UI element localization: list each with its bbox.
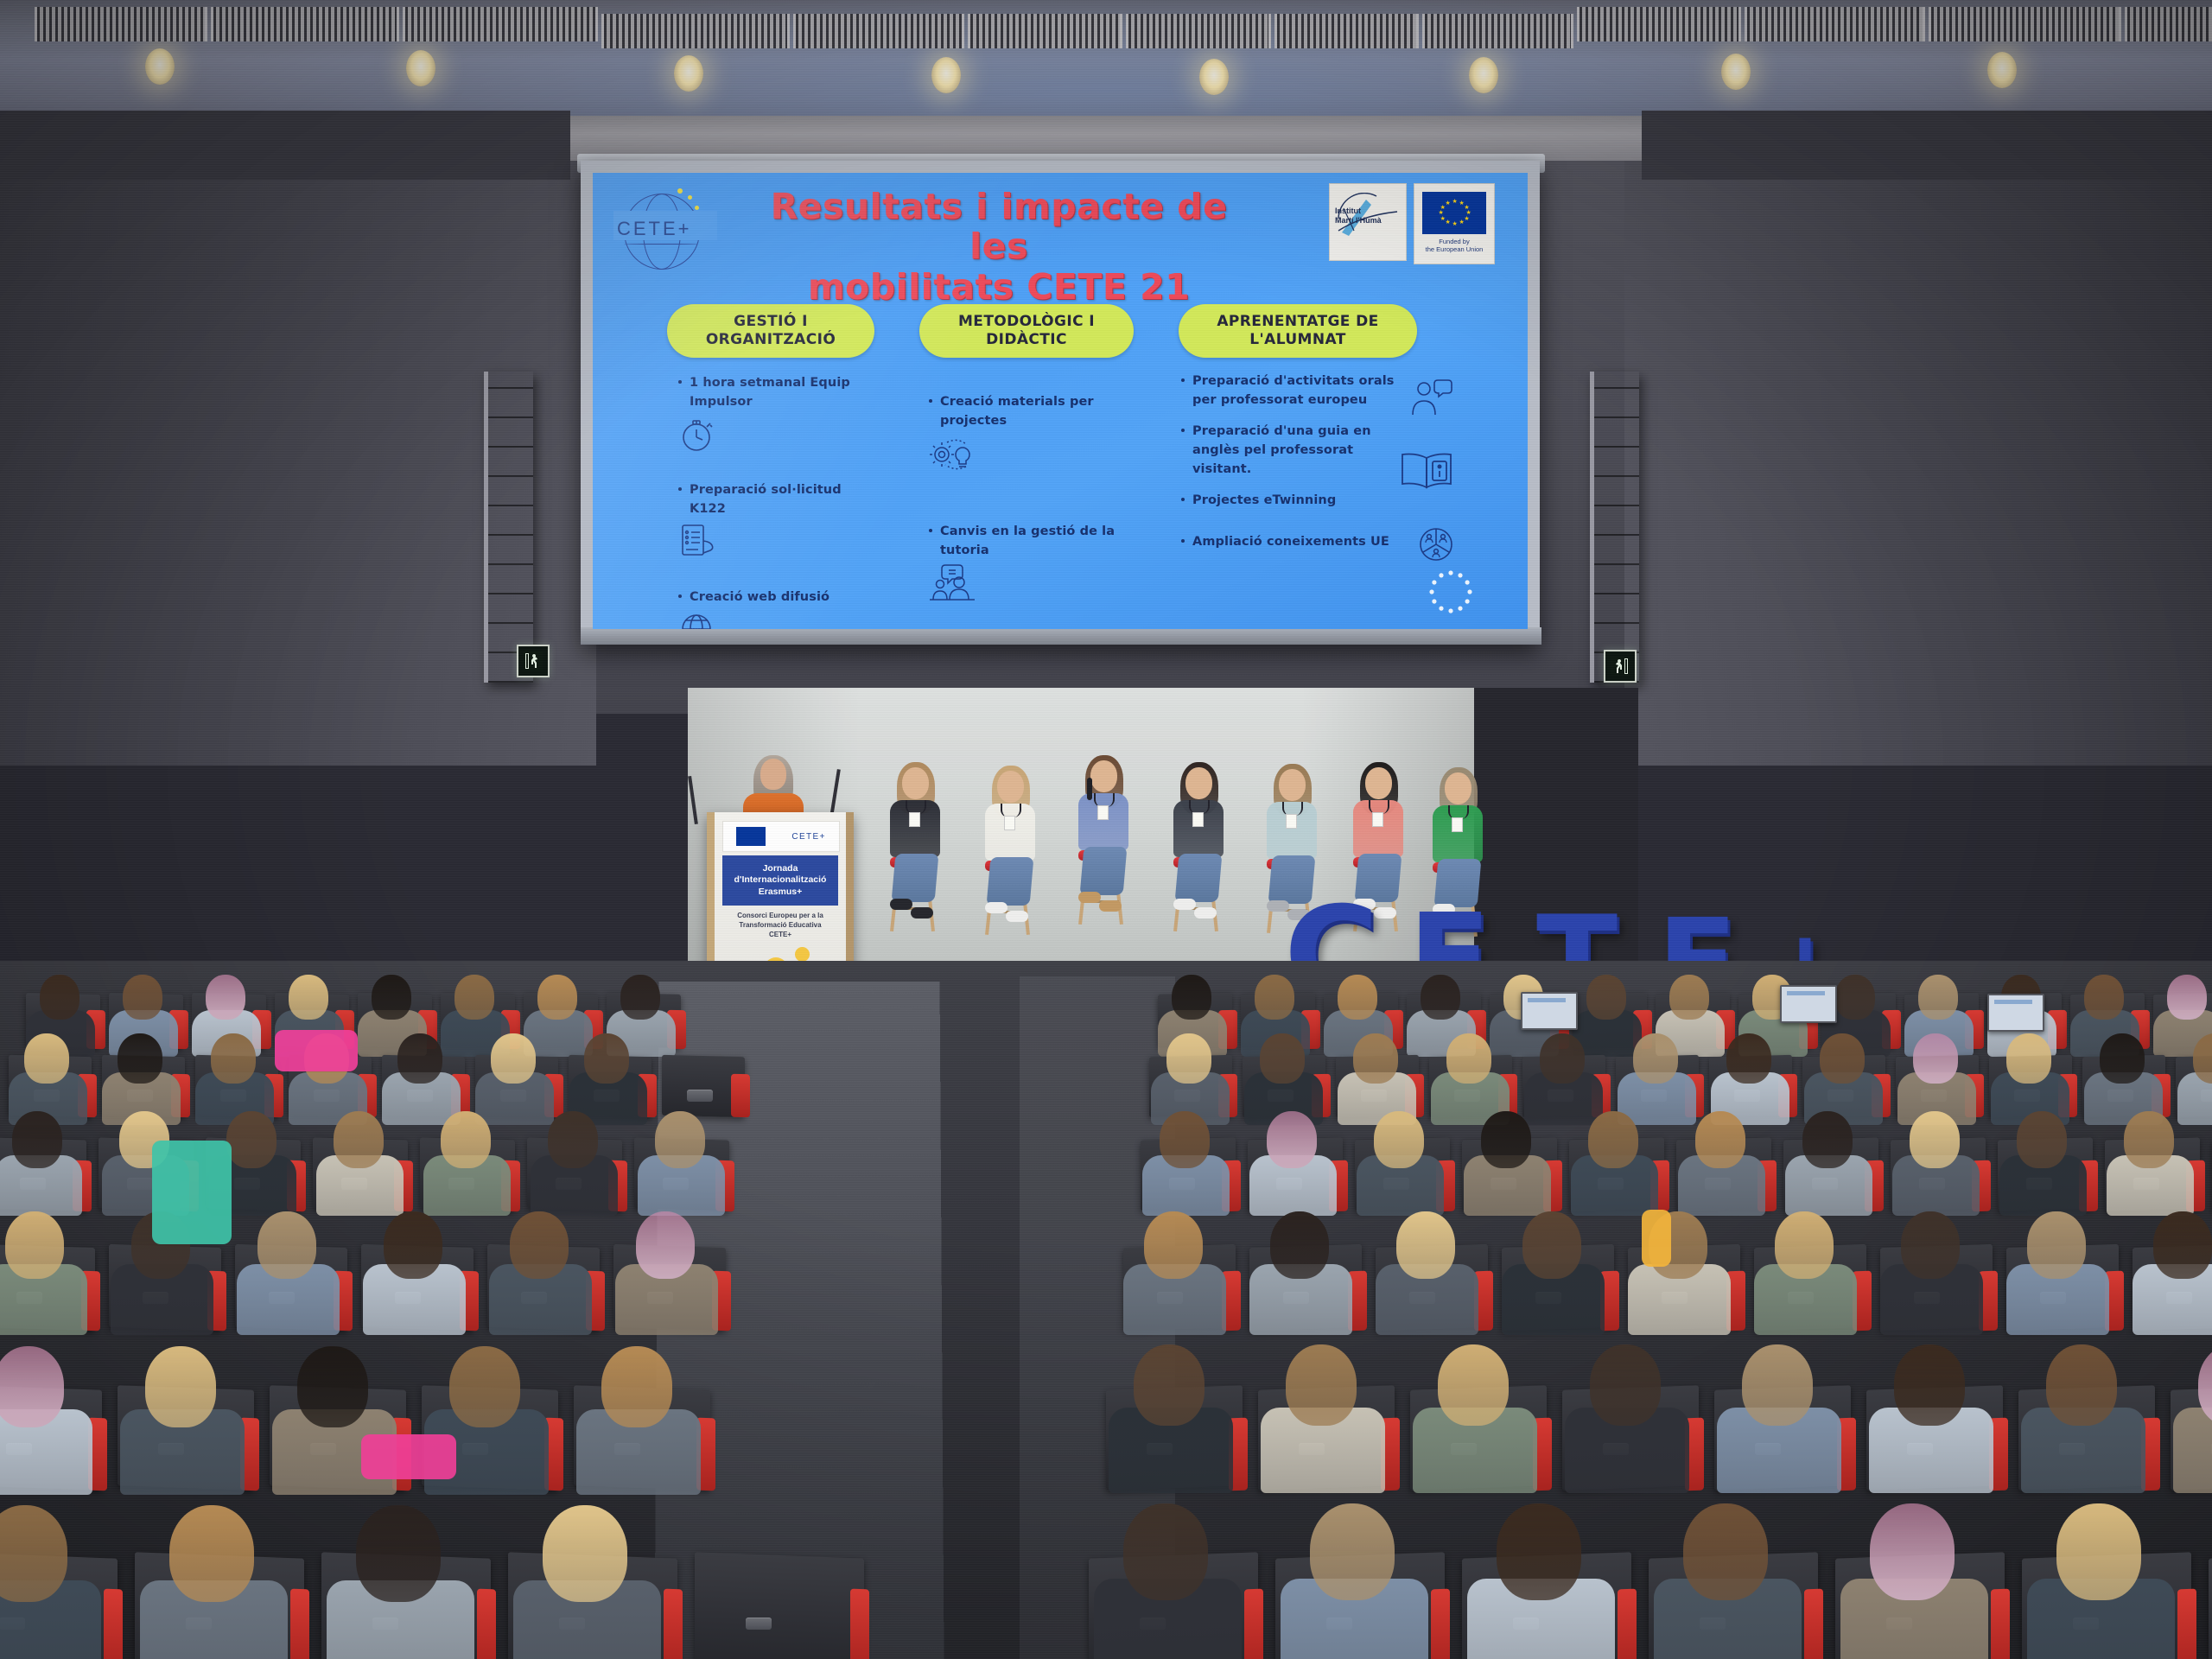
seat-cushion	[1244, 1589, 1263, 1659]
panelist-head	[1185, 767, 1212, 799]
lectern-sub-line3: CETE+	[722, 930, 838, 939]
slide-title-line1: Resultats i impacte de les	[740, 187, 1258, 267]
audience-head	[655, 1111, 705, 1168]
eu-flag-icon: ★★★★★★★★★★★★	[1422, 192, 1486, 234]
panelist-shoe	[1194, 907, 1217, 918]
panelist-head	[1090, 760, 1117, 792]
audience-head	[1540, 1033, 1585, 1084]
panelist	[976, 767, 1044, 937]
seat-cushion	[850, 1589, 869, 1659]
institut-logo-line1: Institut	[1335, 207, 1382, 216]
panelist-head	[902, 767, 929, 799]
audience-head	[1446, 1033, 1491, 1084]
audience-head	[12, 1111, 62, 1168]
audience-head	[1166, 1033, 1211, 1084]
svg-text:www: www	[689, 626, 703, 629]
audience-head	[1918, 975, 1958, 1020]
audience-head	[2006, 1033, 2051, 1084]
seat-cushion	[1431, 1589, 1450, 1659]
audience-head	[2100, 1033, 2145, 1084]
audience-head	[1742, 1344, 1813, 1426]
audience-head	[1396, 1211, 1455, 1279]
eu-star: ★	[1464, 206, 1468, 210]
audience-head	[1353, 1033, 1398, 1084]
audience-head	[491, 1033, 536, 1084]
eu-stars-circle-icon	[1426, 569, 1476, 620]
category-pill-metodologic: METODOLÒGIC I DIDÀCTIC	[919, 304, 1134, 358]
audience-head	[454, 975, 494, 1020]
grille-section	[2125, 7, 2212, 41]
audience-torso	[2173, 1408, 2212, 1493]
panelist-legs	[1080, 847, 1128, 895]
grille-section	[1422, 14, 1573, 48]
emergency-exit-icon	[517, 645, 550, 677]
grille-section	[211, 7, 399, 41]
eu-star: ★	[1440, 217, 1445, 221]
audience-head	[620, 975, 660, 1020]
auditorium-seat	[695, 1552, 864, 1659]
audience-head	[2084, 975, 2124, 1020]
audience-head	[1894, 1344, 1965, 1426]
audience-head	[372, 975, 411, 1020]
seat-cushion	[2177, 1589, 2196, 1659]
audience-laptop	[1780, 985, 1837, 1023]
pill-2-line2: DIDÀCTIC	[958, 331, 1095, 349]
cete-logo-text: CETE+	[617, 218, 692, 240]
audience-head	[1255, 975, 1294, 1020]
audience-head	[1267, 1111, 1317, 1168]
audience-head	[441, 1111, 491, 1168]
audience-head	[1586, 975, 1626, 1020]
category-pill-aprenentatge: APRENENTATGE DE L'ALUMNAT	[1179, 304, 1417, 358]
audience-head	[289, 975, 328, 1020]
eu-funded-logo: ★★★★★★★★★★★★ Funded by the European Unio…	[1414, 183, 1495, 264]
bullet-item: 1 hora setmanal Equip Impulsor	[676, 373, 866, 411]
presentation-slide: CETE+ Resultats i impacte de les mobilit…	[593, 173, 1528, 629]
network-people-icon	[1415, 524, 1457, 569]
gear-bulb-icon	[926, 432, 1120, 477]
audience-head	[1497, 1503, 1581, 1600]
pill-1-line1: GESTIÓ I	[706, 313, 836, 331]
panelist-head	[997, 771, 1024, 803]
pink-notebook	[361, 1434, 456, 1479]
pill-3-line1: APRENENTATGE DE	[1217, 313, 1378, 331]
audience-head	[1775, 1211, 1834, 1279]
eu-star: ★	[1452, 200, 1457, 204]
eu-star: ★	[1459, 220, 1464, 225]
audience-head	[206, 975, 245, 1020]
lectern-banner-line3: Erasmus+	[759, 887, 803, 898]
stopwatch-icon	[676, 413, 866, 458]
person-speech-bubble-icon	[1408, 377, 1453, 423]
audience-head	[2017, 1111, 2067, 1168]
panelist-shoe	[890, 899, 912, 910]
seat-cushion	[104, 1589, 123, 1659]
audience-head	[5, 1211, 64, 1279]
ceiling-spotlight	[1469, 57, 1498, 93]
lectern-event-banner: Jornada d'Internacionalització Erasmus+	[722, 855, 838, 906]
audience-head	[1633, 1033, 1678, 1084]
colorful-lanyard	[1642, 1210, 1671, 1267]
audience-head	[1270, 1211, 1329, 1279]
audience-head	[2027, 1211, 2086, 1279]
slide-title: Resultats i impacte de les mobilitats CE…	[740, 187, 1258, 307]
seat-cushion	[290, 1589, 309, 1659]
lectern-subtitle: Consorci Europeu per a la Transformació …	[722, 911, 838, 939]
bullet-item: Projectes eTwinning	[1179, 491, 1408, 510]
moderator-head	[760, 759, 786, 790]
category-pill-gestio: GESTIÓ I ORGANITZACIÓ	[667, 304, 874, 358]
cete-plus-logo: CETE+	[613, 188, 717, 263]
audience-head	[1669, 975, 1709, 1020]
panelist-badge	[1372, 812, 1383, 827]
audience-head	[1481, 1111, 1531, 1168]
pink-bag	[275, 1030, 358, 1071]
audience-head	[257, 1211, 316, 1279]
grille-section	[793, 14, 964, 48]
panelist-shoe	[1173, 899, 1196, 910]
panelist-badge	[1097, 805, 1109, 820]
audience-head	[1134, 1344, 1205, 1426]
grille-section	[601, 14, 790, 48]
panelist-badge	[1452, 817, 1463, 832]
grille-section	[1745, 7, 1925, 41]
ceiling-spotlight	[1987, 52, 2017, 88]
seat-cushion	[731, 1074, 750, 1118]
audience-head	[1870, 1503, 1955, 1600]
panelist	[1070, 757, 1137, 926]
pill-2-line1: METODOLÒGIC I	[958, 313, 1095, 331]
audience-head	[1160, 1111, 1210, 1168]
panelist-badge	[909, 812, 920, 827]
audience-head	[601, 1346, 672, 1427]
audience-head	[384, 1211, 442, 1279]
panelist-shoe	[1078, 892, 1101, 903]
eu-star: ★	[1452, 222, 1457, 226]
eu-star: ★	[1459, 201, 1464, 206]
audience-head	[1374, 1111, 1424, 1168]
panelist-head	[1365, 767, 1392, 799]
bullet-item: Ampliació coneixements UE	[1179, 532, 1408, 551]
eu-star: ★	[1466, 211, 1471, 215]
panelist-legs	[1175, 854, 1223, 902]
eu-funded-line2: the European Union	[1414, 245, 1494, 253]
audience-head	[1144, 1211, 1203, 1279]
audience-head	[1683, 1503, 1768, 1600]
audience-head	[1590, 1344, 1661, 1426]
slide-column-metodologic: Creació materials per projectes Canvis e…	[926, 392, 1120, 607]
audience-head	[118, 1033, 162, 1084]
left-upper-dark-wall	[0, 111, 570, 180]
audience-head	[356, 1505, 441, 1602]
lectern-sub-line1: Consorci Europeu per a la	[722, 911, 838, 920]
audience-head	[1260, 1033, 1305, 1084]
audience-head	[449, 1346, 520, 1427]
panelist-badge	[1192, 812, 1204, 827]
audience-head	[145, 1346, 216, 1427]
handheld-microphone	[1087, 778, 1092, 800]
eu-funded-line1: Funded by	[1414, 238, 1494, 245]
panelist-badge	[1286, 814, 1297, 829]
panelist-head	[1279, 769, 1306, 801]
grille-section	[1929, 7, 2121, 41]
audience-head	[537, 975, 577, 1020]
institut-logo-line2: Martí l'Humà	[1335, 216, 1382, 226]
eu-funded-caption: Funded by the European Union	[1414, 238, 1494, 253]
auditorium-photo: CETE+ Resultats i impacte de les mobilit…	[0, 0, 2212, 1659]
slide-title-line2: mobilitats CETE 21	[740, 267, 1258, 307]
two-people-talking-icon	[926, 562, 1120, 607]
grille-section	[1577, 7, 1741, 41]
bullet-item: Creació materials per projectes	[926, 392, 1120, 430]
lectern-logo-row: CETE+	[722, 821, 840, 852]
audience-head	[1802, 1111, 1853, 1168]
panelist-shoe	[1006, 911, 1028, 922]
lectern-cete-logo: CETE+	[791, 832, 826, 842]
ceiling-spotlight	[145, 48, 175, 85]
grille-section	[1126, 14, 1271, 48]
audience-head	[1695, 1111, 1745, 1168]
right-wall	[1624, 161, 2212, 766]
audience-laptop	[1987, 994, 2044, 1032]
audience-head	[1286, 1344, 1357, 1426]
audience-head	[1123, 1503, 1208, 1600]
audience-head	[0, 1346, 64, 1427]
grille-section	[968, 14, 1122, 48]
bullet-item: Canvis en la gestió de la tutoria	[926, 522, 1120, 560]
audience-head	[1438, 1344, 1509, 1426]
bullet-item: Preparació sol·licitud K122	[676, 480, 866, 518]
seat-cushion	[1618, 1589, 1637, 1659]
audience-head	[123, 975, 162, 1020]
ceiling-spotlight	[1721, 54, 1751, 90]
pill-3-line2: L'ALUMNAT	[1217, 331, 1378, 349]
institut-marti-lhuma-logo: Institut Martí l'Humà	[1329, 183, 1407, 261]
lectern-banner-line2: d'Internacionalització	[734, 874, 827, 886]
audience-head	[169, 1505, 254, 1602]
seat-cushion	[1991, 1589, 2010, 1659]
audience-head	[1726, 1033, 1771, 1084]
audience-head	[1901, 1211, 1960, 1279]
bullet-item: Preparació d'activitats orals per profes…	[1179, 372, 1408, 410]
panelist-legs	[892, 854, 939, 902]
emergency-exit-icon	[1604, 650, 1637, 683]
audience-head	[2124, 1111, 2174, 1168]
right-upper-dark-wall	[1642, 111, 2212, 180]
panelist-shoe	[911, 907, 933, 918]
panelist-legs	[987, 857, 1034, 906]
panelist	[881, 764, 949, 933]
grille-section	[403, 7, 598, 41]
ceiling-spotlight	[931, 57, 961, 93]
audience-head	[636, 1211, 695, 1279]
eu-star: ★	[1446, 201, 1450, 206]
lectern-sub-line2: Transformació Educativa	[722, 920, 838, 930]
audience-head	[211, 1033, 256, 1084]
auditorium-seat	[2209, 1552, 2212, 1659]
audience-head	[226, 1111, 276, 1168]
audience-head	[1421, 975, 1460, 1020]
eu-star: ★	[1464, 217, 1468, 221]
panelist	[1165, 764, 1232, 933]
audience-laptop	[1521, 992, 1578, 1030]
panelist-shoe	[1099, 900, 1122, 912]
audience-head	[40, 975, 79, 1020]
audience-head	[2046, 1344, 2117, 1426]
seat-cushion	[1804, 1589, 1823, 1659]
panelist-shoe	[985, 902, 1007, 913]
pill-1-line2: ORGANITZACIÓ	[706, 331, 836, 349]
seat-folding-latch	[746, 1618, 772, 1630]
slide-column-gestio: 1 hora setmanal Equip Impulsor Preparaci…	[676, 373, 866, 629]
seat-folding-latch	[687, 1090, 713, 1102]
audience-head	[584, 1033, 629, 1084]
eu-star: ★	[1439, 211, 1443, 215]
eu-flag-icon	[736, 827, 766, 846]
audience-head	[1310, 1503, 1395, 1600]
audience-head	[297, 1346, 368, 1427]
document-hand-icon	[676, 520, 866, 565]
audience-head	[543, 1505, 627, 1602]
seat-cushion	[477, 1589, 496, 1659]
audience-head	[2153, 1211, 2212, 1279]
audience-head	[510, 1211, 569, 1279]
audience-head	[334, 1111, 384, 1168]
ceiling-spotlight	[1199, 59, 1229, 95]
lectern-banner-line1: Jornada	[763, 863, 798, 874]
audience-head	[1338, 975, 1377, 1020]
eu-star: ★	[1446, 220, 1450, 225]
grille-section	[35, 7, 207, 41]
seat-cushion	[664, 1589, 683, 1659]
bullet-item: Creació web difusió	[676, 588, 866, 607]
eu-star: ★	[1440, 206, 1445, 210]
audience-head	[1835, 975, 1875, 1020]
line-array-speaker-left	[484, 372, 533, 683]
audience-head	[548, 1111, 598, 1168]
globe-www-icon: www	[676, 608, 866, 629]
audience-head	[1913, 1033, 1958, 1084]
panelist-badge	[1004, 816, 1015, 830]
audience-head	[2167, 975, 2207, 1020]
audience-head	[1522, 1211, 1581, 1279]
ceiling-spotlight	[674, 55, 703, 92]
teal-sweater	[152, 1141, 232, 1244]
audience-head	[2056, 1503, 2141, 1600]
audience-head	[397, 1033, 442, 1084]
slide-column-aprenentatge: Preparació d'activitats orals per profes…	[1179, 372, 1408, 551]
panelist-head	[1445, 772, 1471, 804]
audience-head	[24, 1033, 69, 1084]
audience-head	[1588, 1111, 1638, 1168]
line-array-speaker-right	[1590, 372, 1639, 683]
audience-head	[1910, 1111, 1960, 1168]
ceiling-spotlight	[406, 50, 435, 86]
grille-section	[1274, 14, 1419, 48]
bullet-item: Preparació d'una guia en anglès pel prof…	[1179, 422, 1408, 479]
open-book-info-icon	[1396, 449, 1457, 499]
projection-screen-bottom-bar	[581, 627, 1541, 645]
audience-head	[1820, 1033, 1865, 1084]
audience-head	[1172, 975, 1211, 1020]
